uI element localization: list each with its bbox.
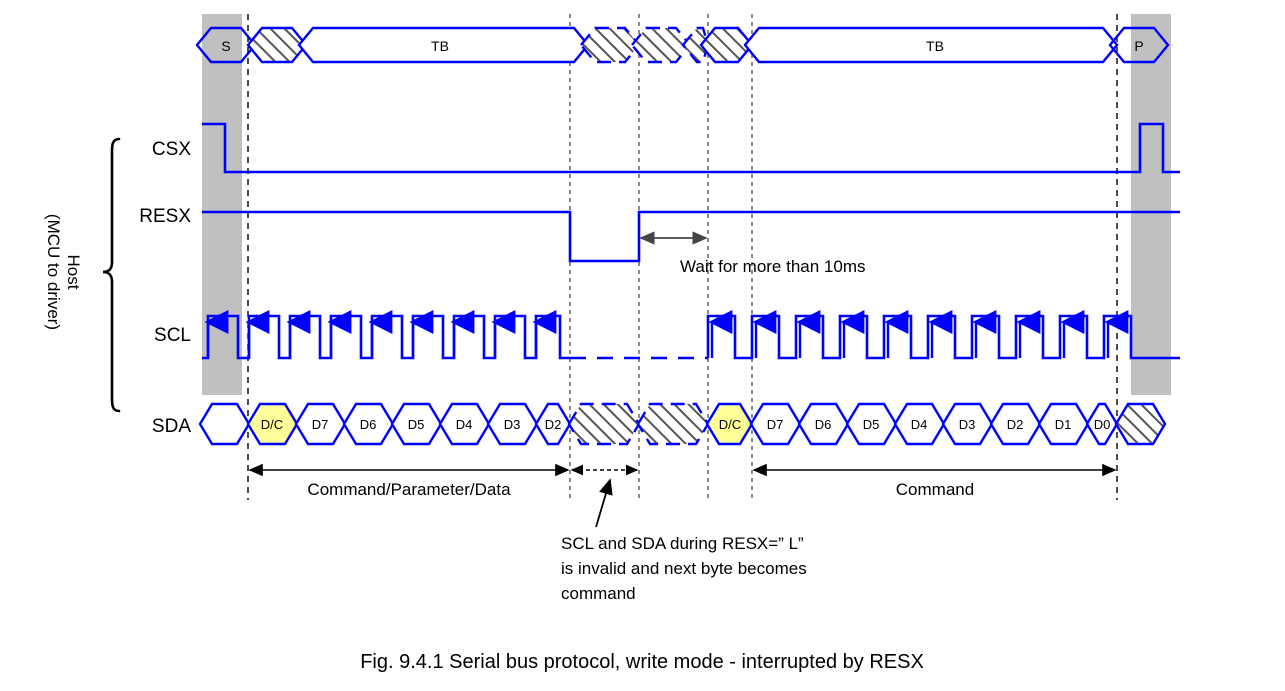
timing-diagram-figure: S TB TB P [0,0,1285,691]
sda-cell-label: D7 [767,417,784,432]
signal-label-csx: CSX [152,139,191,160]
csx-waveform [202,124,1180,172]
start-condition-label: S [221,38,230,54]
sda-cell-label: D5 [408,417,425,432]
host-label-line1: Host [64,255,83,290]
sda-cell-label: D/C [261,417,283,432]
sda-cell-label: D2 [1007,417,1024,432]
stop-shaded-band [1131,14,1171,395]
sda-cell: D1 [1039,404,1088,444]
host-group-bracket [103,139,119,411]
span-command: Command [754,470,1115,499]
sda-cell: D6 [799,404,848,444]
sda-cell-label: D3 [504,417,521,432]
callout-line-1: SCL and SDA during RESX=” L” [561,534,804,553]
sda-cell: D3 [488,404,537,444]
signal-label-scl: SCL [154,325,191,346]
wait-duration-annotation: Wait for more than 10ms [641,238,866,276]
sda-cell-label: D7 [312,417,329,432]
span-command-parameter-data: Command/Parameter/Data [250,470,568,499]
sda-cell: D0 [1087,404,1117,444]
sda-cell-invalid-2 [638,404,708,444]
sda-cell-label: D1 [1055,417,1072,432]
sda-cell: D6 [344,404,393,444]
sda-cell-dc-1: D/C [248,404,297,444]
sda-cell: D2 [991,404,1040,444]
wait-annotation-label: Wait for more than 10ms [680,257,866,276]
sda-cell-label: D4 [911,417,928,432]
span-left-label: Command/Parameter/Data [307,480,511,499]
sda-cell: D5 [392,404,441,444]
sda-waveform: D/C D7 D6 D5 D4 D3 D2 [200,404,1165,444]
sda-cell: D2 [536,404,570,444]
transfer-cell-hatched-1 [248,28,306,62]
sda-cell-trailing-hatched [1116,404,1165,444]
sda-cell-invalid-1 [569,404,639,444]
signal-label-sda: SDA [152,416,191,437]
resx-waveform [202,212,1180,261]
sda-cell-dc-2: D/C [707,404,752,444]
diagram-canvas: S TB TB P [0,0,1285,691]
transfer-cell-label: TB [431,38,449,54]
sda-cell-label: D4 [456,417,473,432]
transfer-cell-tb-1: TB [299,28,588,62]
transfer-cell-hatched-2 [581,28,708,62]
sda-cell: D3 [943,404,992,444]
host-group-label: Host (MCU to driver) [44,214,83,330]
sda-cell-label: D5 [863,417,880,432]
sda-cell: D5 [847,404,896,444]
sda-cell-label: D3 [959,417,976,432]
transfer-cell-tb-2: TB [745,28,1117,62]
figure-caption: Fig. 9.4.1 Serial bus protocol, write mo… [360,651,924,673]
callout-line-3: command [561,584,636,603]
sda-cell-label: D2 [545,417,562,432]
sda-cell: D7 [751,404,800,444]
transfer-cell-label: TB [926,38,944,54]
sda-cell-label: D0 [1094,417,1111,432]
stop-condition-label: P [1134,38,1143,54]
invalid-callout: SCL and SDA during RESX=” L” is invalid … [561,480,807,603]
host-label-line2: (MCU to driver) [44,214,63,330]
transfer-byte-row: S TB TB P [197,28,1168,62]
signal-label-resx: RESX [139,206,191,227]
span-right-label: Command [896,480,974,499]
sda-cell: D7 [296,404,345,444]
callout-line-2: is invalid and next byte becomes [561,559,807,578]
signal-labels: CSX RESX SCL SDA [139,139,191,437]
sda-cell-label: D/C [719,417,741,432]
sda-cell: D4 [895,404,944,444]
scl-waveform [202,316,1180,358]
sda-cell [200,404,249,444]
sda-cell-label: D6 [360,417,377,432]
sda-cell: D4 [440,404,489,444]
sda-cell-label: D6 [815,417,832,432]
